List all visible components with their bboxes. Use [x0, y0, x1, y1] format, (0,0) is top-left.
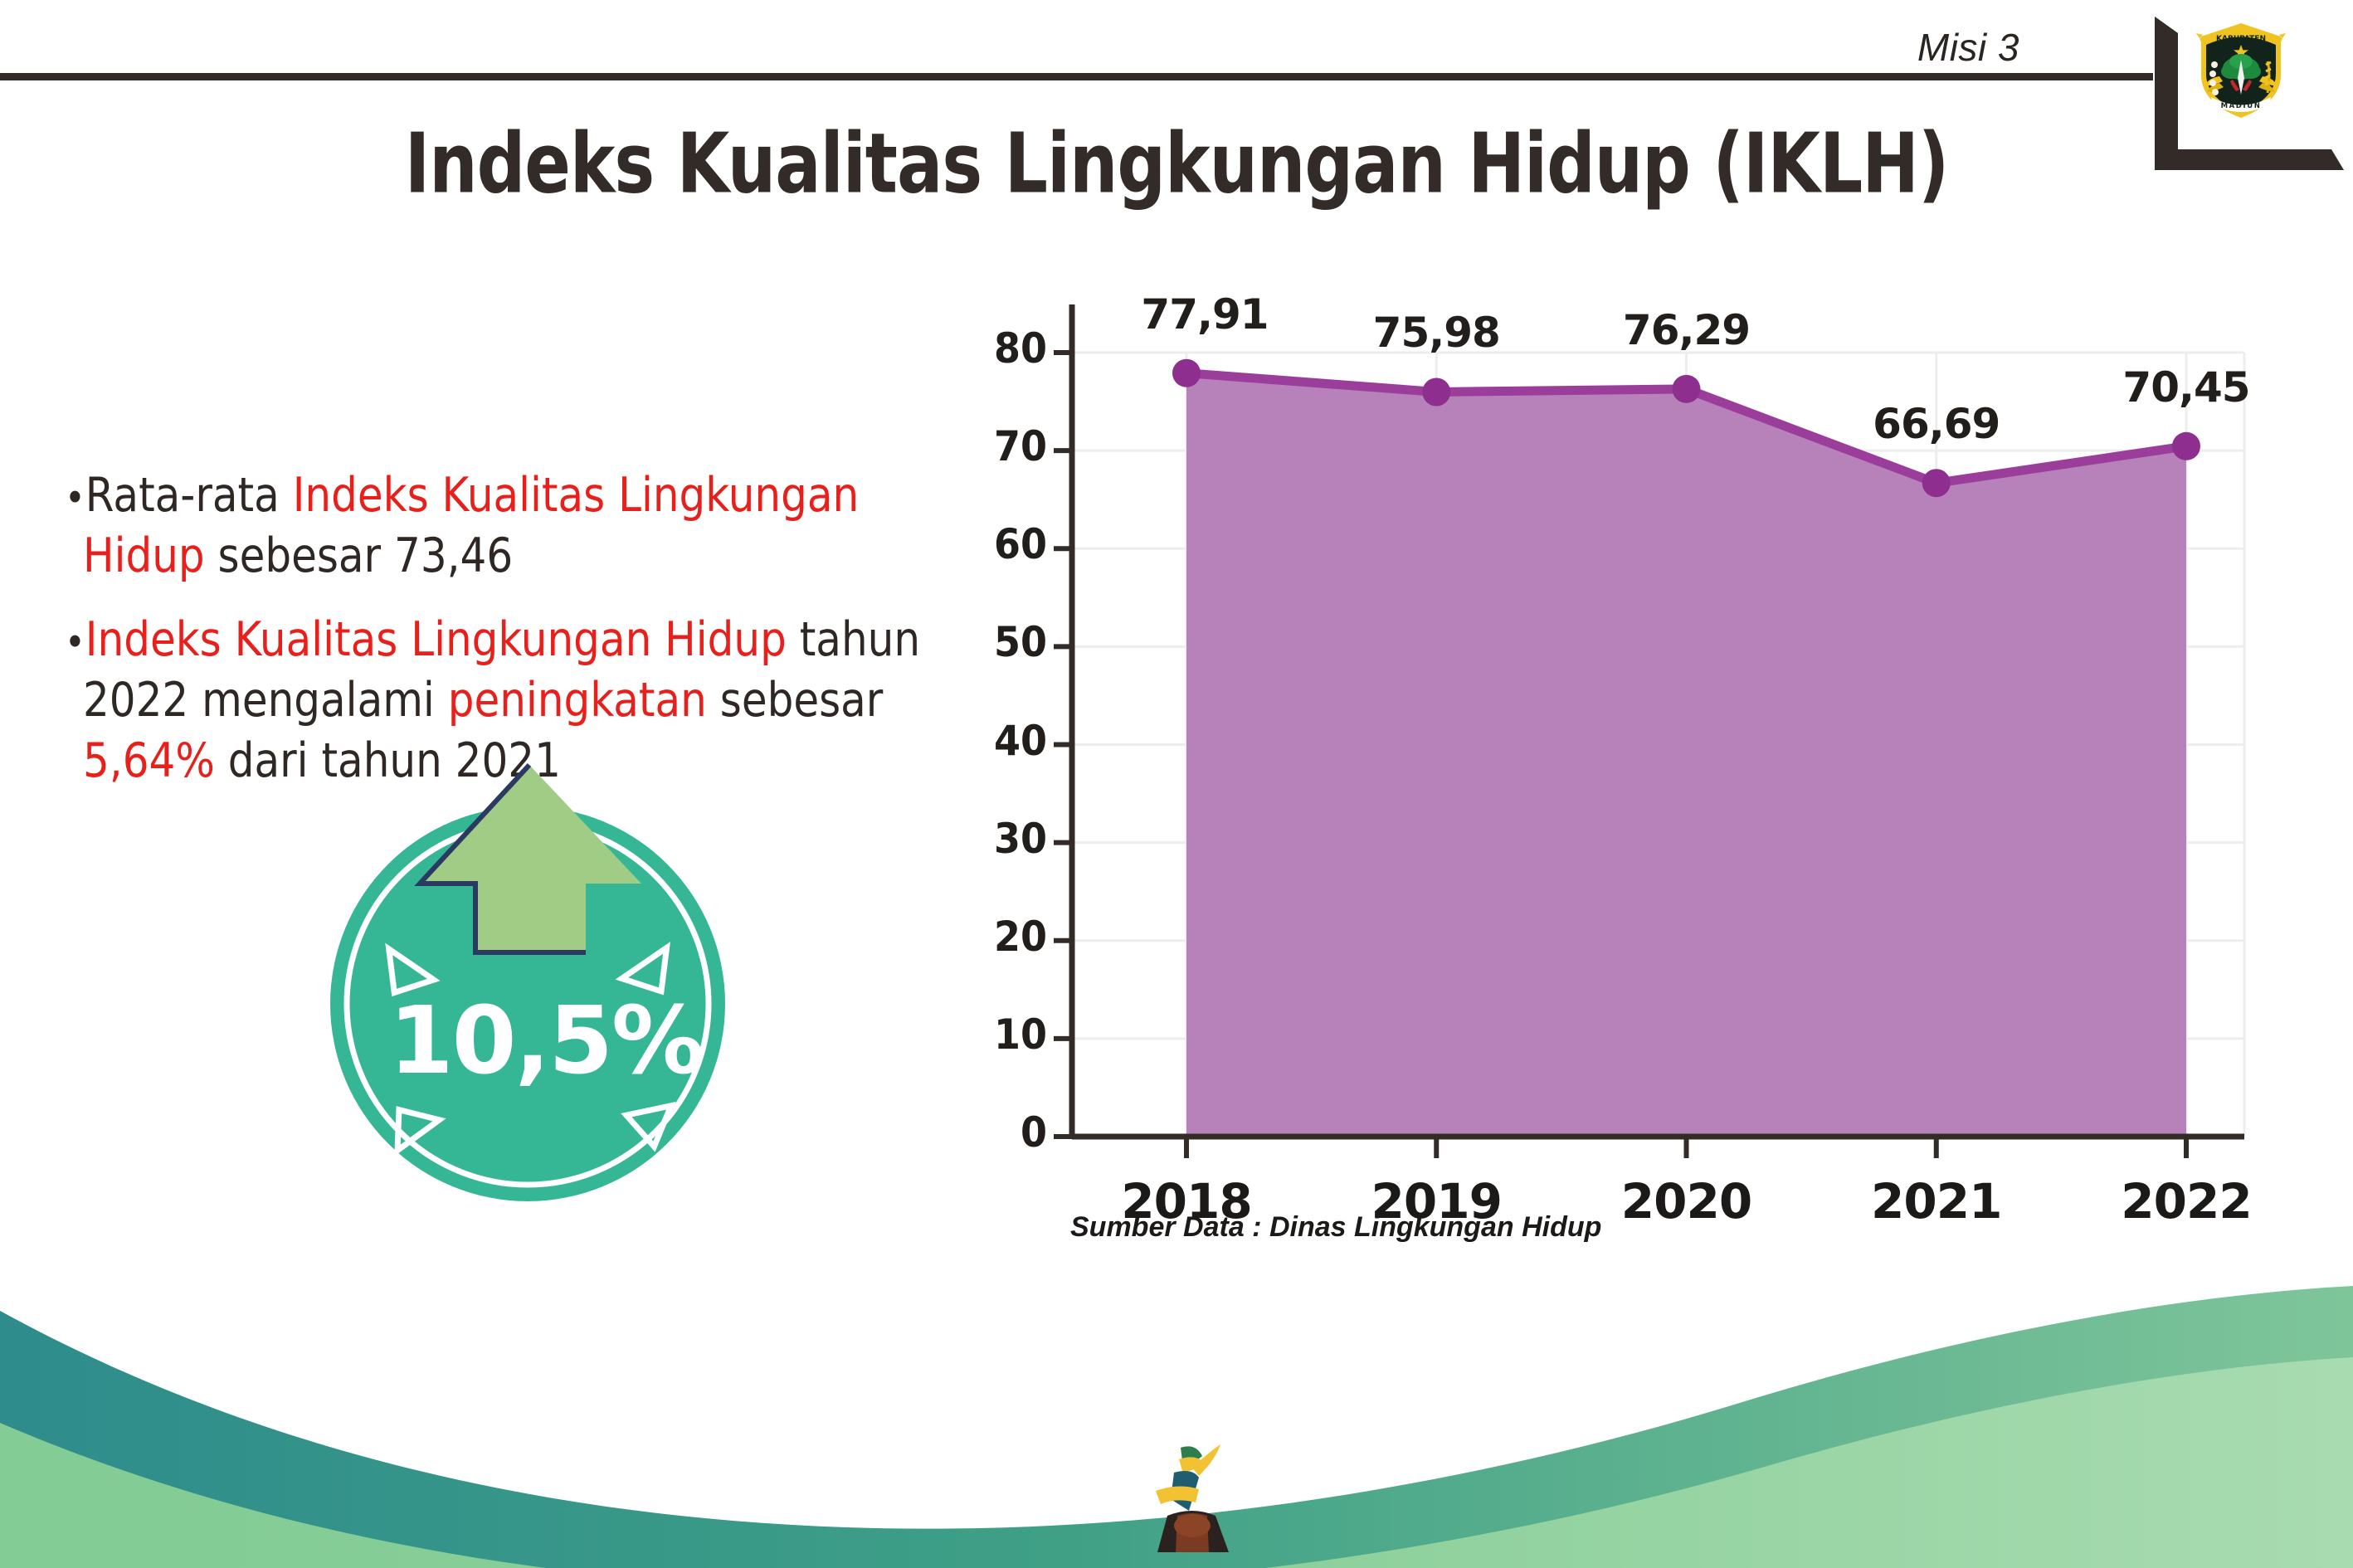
- y-axis-tick-label: 30: [956, 815, 1047, 863]
- x-axis-tick-label: 2022: [2087, 1173, 2286, 1230]
- data-point-label: 75,98: [1328, 309, 1544, 357]
- bullet-dot: •: [65, 619, 85, 665]
- y-axis-tick-label: 40: [956, 717, 1047, 765]
- highlighted-text: peningkatan: [448, 672, 707, 727]
- kabupaten-madiun-emblem-icon: KABUPATEN MADIUN: [2195, 13, 2287, 121]
- data-point-label: 76,29: [1579, 306, 1795, 354]
- data-point-marker: [1172, 359, 1201, 387]
- header-rule: [0, 73, 2153, 80]
- infographic-slide: Misi 3 KABUPATEN: [0, 0, 2353, 1568]
- growth-badge-value: 10,5%: [322, 987, 770, 1095]
- chart-plot: [979, 274, 2290, 1269]
- y-axis-tick-label: 10: [956, 1010, 1047, 1059]
- bullet-dot: •: [65, 475, 85, 521]
- y-axis-tick-label: 20: [956, 913, 1047, 961]
- body-text: sebesar 73,46: [205, 528, 513, 582]
- data-point-label: 77,91: [1097, 290, 1313, 338]
- x-axis-tick-label: 2020: [1587, 1173, 1786, 1230]
- data-point-label: 70,45: [2078, 363, 2294, 411]
- y-axis-tick-label: 80: [956, 324, 1047, 373]
- data-point-label: 66,69: [1829, 400, 2044, 448]
- data-point-marker: [1422, 377, 1450, 406]
- list-item: •Rata-rata Indeks Kualitas Lingkungan Hi…: [65, 465, 986, 586]
- area-fill: [1186, 373, 2186, 1137]
- dancer-logo-icon: [1149, 1439, 1236, 1560]
- body-text: Rata-rata: [85, 467, 293, 522]
- y-axis-tick-label: 70: [956, 422, 1047, 470]
- svg-text:MADIUN: MADIUN: [2221, 102, 2262, 110]
- y-axis-tick-label: 60: [956, 520, 1047, 568]
- iklh-area-chart: 010203040506070802018201920202021202277,…: [979, 274, 2290, 1269]
- svg-text:KABUPATEN: KABUPATEN: [2216, 35, 2266, 43]
- data-point-marker: [1922, 469, 1951, 497]
- body-text: sebesar: [707, 672, 883, 727]
- source-note: Sumber Data : Dinas Lingkungan Hidup: [1070, 1211, 1601, 1244]
- y-axis-tick-label: 0: [956, 1108, 1047, 1157]
- x-axis-tick-label: 2021: [1837, 1173, 2036, 1230]
- y-axis-tick-label: 50: [956, 618, 1047, 666]
- highlighted-text: 5,64%: [83, 733, 215, 787]
- growth-badge: 10,5%: [322, 738, 770, 1203]
- growth-badge-graphic: [322, 738, 770, 1203]
- data-point-marker: [1673, 375, 1701, 403]
- misi-label: Misi 3: [1917, 25, 2019, 70]
- highlighted-text: Indeks Kualitas Lingkungan Hidup: [85, 611, 787, 666]
- page-title: Indeks Kualitas Lingkungan Hidup (IKLH): [0, 116, 2353, 212]
- data-point-marker: [2172, 432, 2200, 460]
